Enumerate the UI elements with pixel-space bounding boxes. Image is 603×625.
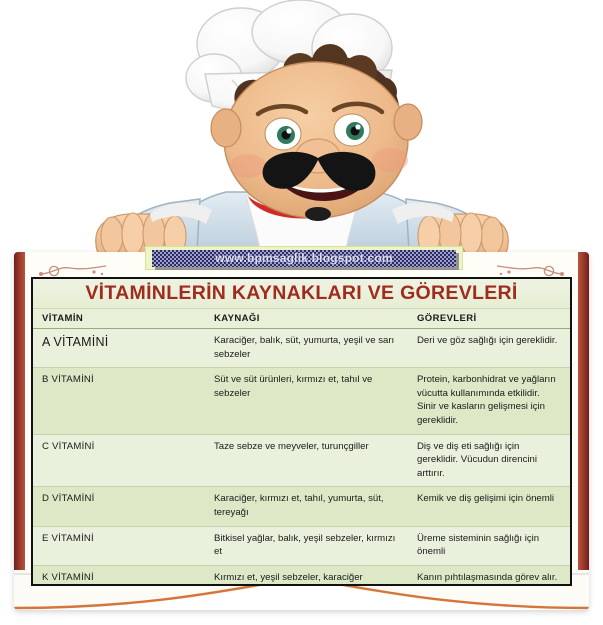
cell-vitamin: D VİTAMİNİ <box>33 487 205 526</box>
table-row: C VİTAMİNİ Taze sebze ve meyveler, turun… <box>33 434 570 487</box>
table-row: A VİTAMİNİ Karaciğer, balık, süt, yumurt… <box>33 329 570 368</box>
cell-vitamin: K VİTAMİNİ <box>33 565 205 586</box>
page-title: VİTAMİNLERİN KAYNAKLARI VE GÖREVLERİ <box>85 282 517 305</box>
table-row: B VİTAMİNİ Süt ve süt ürünleri, kırmızı … <box>33 368 570 434</box>
cell-vitamin: C VİTAMİNİ <box>33 434 205 487</box>
watermark-text: www.bpmsaglik.blogspot.com <box>215 251 392 265</box>
cell-kaynagi: Kırmızı et, yeşil sebzeler, karaciğer <box>205 565 408 586</box>
table-row: K VİTAMİNİ Kırmızı et, yeşil sebzeler, k… <box>33 565 570 586</box>
cell-kaynagi: Taze sebze ve meyveler, turunçgiller <box>205 434 408 487</box>
cell-kaynagi: Karaciğer, balık, süt, yumurta, yeşil ve… <box>205 329 408 368</box>
chef-illustration <box>0 0 603 268</box>
cell-vitamin: B VİTAMİNİ <box>33 368 205 434</box>
cell-vitamin: E VİTAMİNİ <box>33 526 205 565</box>
cell-gorevleri: Kemik ve diş gelişimi için önemli <box>408 487 570 526</box>
column-header-vitamin: VİTAMİN <box>33 309 205 329</box>
cell-gorevleri: Kanın pıhtılaşmasında görev alır. <box>408 565 570 586</box>
watermark-banner: www.bpmsaglik.blogspot.com <box>145 246 463 270</box>
cell-kaynagi: Bitkisel yağlar, balık, yeşil sebzeler, … <box>205 526 408 565</box>
poster-canvas: www.bpmsaglik.blogspot.com VİTAMİNLERİN … <box>0 0 603 625</box>
cell-gorevleri: Deri ve göz sağlığı için gereklidir. <box>408 329 570 368</box>
cell-gorevleri: Diş ve diş eti sağlığı için gereklidir. … <box>408 434 570 487</box>
watermark-plate: www.bpmsaglik.blogspot.com <box>152 250 456 267</box>
column-header-gorevleri: GÖREVLERİ <box>408 309 570 329</box>
table-row: D VİTAMİNİ Karaciğer, kırmızı et, tahıl,… <box>33 487 570 526</box>
cell-vitamin: A VİTAMİNİ <box>33 329 205 368</box>
panel-title-bar: VİTAMİNLERİN KAYNAKLARI VE GÖREVLERİ <box>33 279 570 309</box>
board-spine-left <box>14 252 25 572</box>
cell-kaynagi: Karaciğer, kırmızı et, tahıl, yumurta, s… <box>205 487 408 526</box>
table-row: E VİTAMİNİ Bitkisel yağlar, balık, yeşil… <box>33 526 570 565</box>
vitamin-table: VİTAMİN KAYNAĞI GÖREVLERİ A VİTAMİNİ Kar… <box>33 309 570 586</box>
vitamin-table-panel: VİTAMİNLERİN KAYNAKLARI VE GÖREVLERİ VİT… <box>31 277 572 586</box>
board-spine-right <box>578 252 589 572</box>
cell-gorevleri: Protein, karbonhidrat ve yağların vücutt… <box>408 368 570 434</box>
column-header-kaynagi: KAYNAĞI <box>205 309 408 329</box>
cell-kaynagi: Süt ve süt ürünleri, kırmızı et, tahıl v… <box>205 368 408 434</box>
cell-gorevleri: Üreme sisteminin sağlığı için önemli <box>408 526 570 565</box>
table-header-row: VİTAMİN KAYNAĞI GÖREVLERİ <box>33 309 570 329</box>
